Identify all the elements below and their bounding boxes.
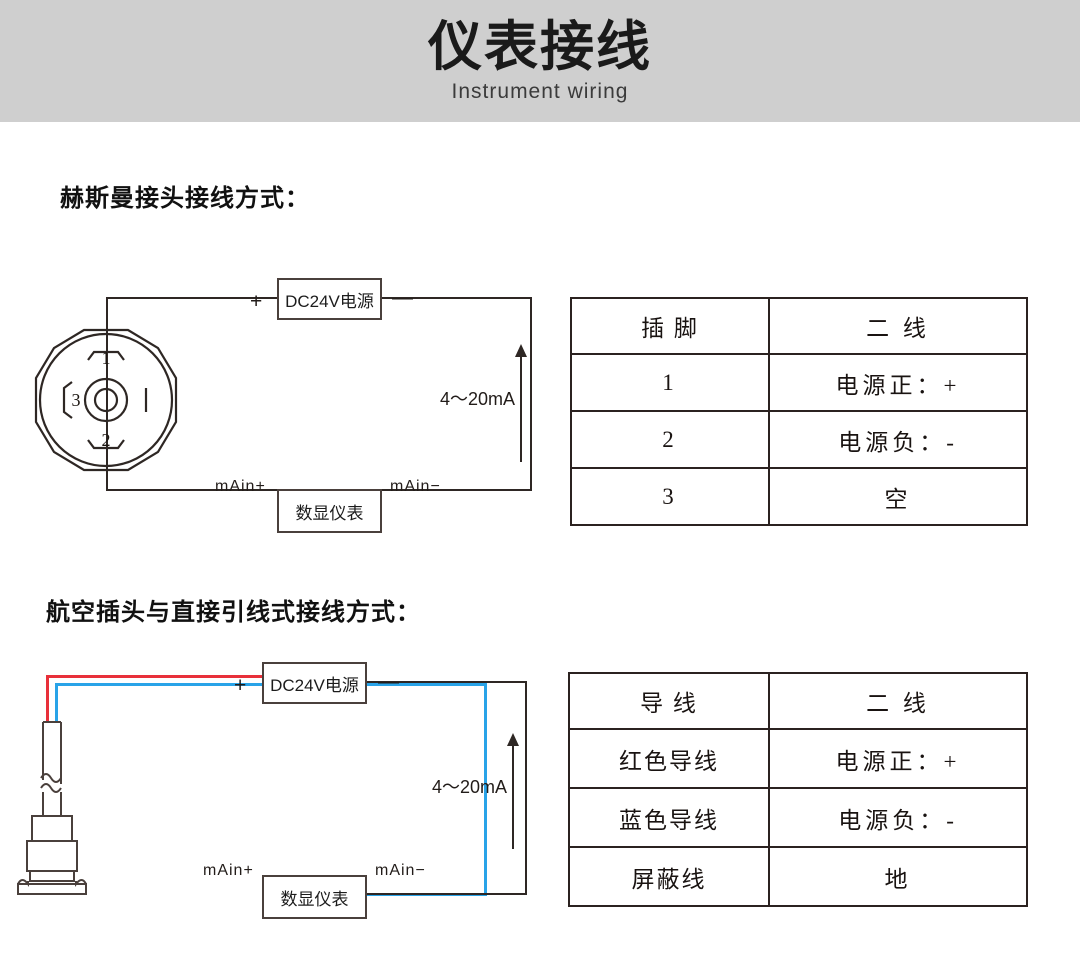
table-row: 2 电源负：- (571, 411, 1027, 468)
table-header-pin: 插 脚 (571, 298, 769, 354)
current-range-label-s1: 4～20mA (440, 385, 515, 411)
current-direction-arrow-s1 (515, 344, 527, 462)
wire-right-vertical-s2 (525, 681, 527, 895)
table-header-conductor: 导 线 (569, 673, 769, 729)
table-row: 1 电源正：+ (571, 354, 1027, 411)
pin-assignment-table-s1: 插 脚 二 线 1 电源正：+ 2 电源负：- 3 空 (570, 297, 1028, 526)
table-row: 3 空 (571, 468, 1027, 525)
cell-blue-wire: 蓝色导线 (569, 788, 769, 847)
wire-bottom-right-s2 (363, 893, 527, 895)
table-header-wire2: 二 线 (769, 673, 1027, 729)
connector-center-inner (95, 389, 117, 411)
mAin-plus-label-s2: mAin+ (203, 862, 254, 880)
cell-red-wire-function: 电源正：+ (769, 729, 1027, 788)
table-row: 红色导线 电源正：+ (569, 729, 1027, 788)
sensor-body-upper (32, 816, 72, 841)
pin2-number: 2 (102, 430, 111, 450)
cell-pin-2: 2 (571, 411, 769, 468)
power-supply-box-s2: DC24V电源 (262, 662, 367, 704)
sensor-body-lower (30, 871, 74, 881)
digital-meter-box-s2: 数显仪表 (262, 875, 367, 919)
current-direction-arrow-s2 (507, 733, 519, 849)
sensor-flange (18, 880, 86, 894)
table-row: 蓝色导线 电源负：- (569, 788, 1027, 847)
table-header-row: 插 脚 二 线 (571, 298, 1027, 354)
cell-red-wire: 红色导线 (569, 729, 769, 788)
hirschmann-connector-s1: 1 2 3 (18, 312, 194, 488)
mAin-minus-label-s2: mAin− (375, 862, 426, 880)
page-subtitle: Instrument wiring (0, 80, 1080, 104)
cell-pin-1: 1 (571, 354, 769, 411)
minus-label-s2: — (378, 670, 400, 694)
minus-label-s1: — (392, 286, 414, 310)
current-range-label-s2: 4～20mA (432, 773, 507, 799)
cell-pin-3-function: 空 (769, 468, 1027, 525)
table-header-row: 导 线 二 线 (569, 673, 1027, 729)
table-row: 屏蔽线 地 (569, 847, 1027, 906)
plus-label-s2: + (234, 674, 247, 698)
plus-label-s1: + (250, 290, 263, 314)
cell-shield-wire: 屏蔽线 (569, 847, 769, 906)
pin3-number: 3 (72, 390, 81, 410)
connector-center-outer (85, 379, 127, 421)
table-header-wire: 二 线 (769, 298, 1027, 354)
sensor-body-middle (27, 841, 77, 871)
cell-pin-2-function: 电源负：- (769, 411, 1027, 468)
cable-lower (43, 792, 61, 816)
cell-pin-3: 3 (571, 468, 769, 525)
section-title-hirschmann: 赫斯曼接头接线方式： (60, 178, 310, 213)
digital-meter-box-s1: 数显仪表 (277, 489, 382, 533)
mAin-plus-label-s1: mAin+ (215, 478, 266, 496)
cable-break-symbol-2 (41, 784, 61, 792)
cell-shield-wire-function: 地 (769, 847, 1027, 906)
pin1-number: 1 (102, 348, 111, 368)
section-title-aviation-plug: 航空插头与直接引线式接线方式： (46, 592, 421, 627)
cell-blue-wire-function: 电源负：- (769, 788, 1027, 847)
mAin-minus-label-s1: mAin− (390, 478, 441, 496)
probe-sensor-s2 (14, 718, 100, 896)
red-wire-vertical-s2 (46, 675, 49, 723)
wire-right-vertical-s1 (530, 297, 532, 491)
wire-assignment-table-s2: 导 线 二 线 红色导线 电源正：+ 蓝色导线 电源负：- 屏蔽线 地 (568, 672, 1028, 907)
power-supply-box-s1: DC24V电源 (277, 278, 382, 320)
cell-pin-1-function: 电源正：+ (769, 354, 1027, 411)
page-title: 仪表接线 (0, 16, 1080, 78)
red-wire-horizontal-s2 (46, 675, 262, 678)
blue-wire-vertical-left-s2 (55, 683, 58, 723)
